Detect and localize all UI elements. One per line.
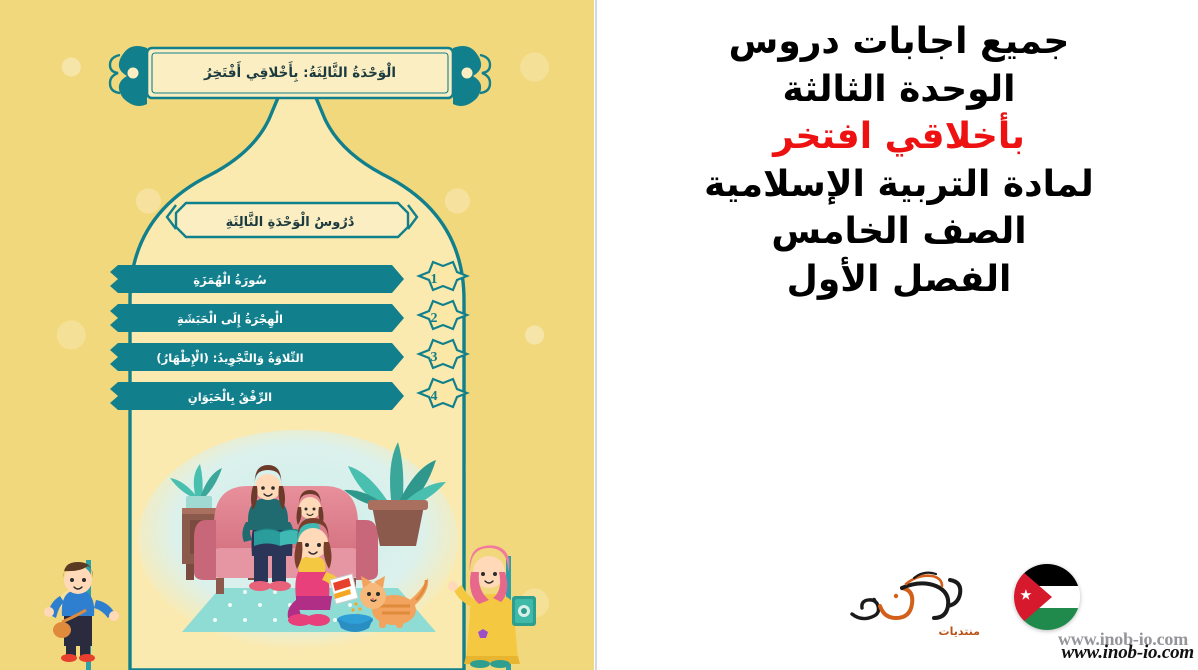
headline-line-2: الوحدة الثالثة (619, 66, 1179, 114)
lesson-title: التِّلاوَةُ وَالتَّجْوِيدُ: (الْإِظْهَار… (60, 343, 400, 373)
banner-flourish-left (110, 46, 147, 106)
lesson-number: 4 (416, 380, 452, 414)
headline-line-1: جميع اجابات دروس (619, 18, 1179, 66)
lesson-row[interactable]: سُورَةُ الْهُمَزَةِ 1 (60, 265, 460, 295)
lessons-heading-text: دُرُوسُ الْوَحْدَةِ الثَّالِثَةِ (190, 205, 390, 239)
headline-unit-name: بأخلاقي افتخر (619, 113, 1179, 161)
cover-artwork (0, 0, 594, 670)
page-root: الْوَحْدَةُ الثَّالِثَةُ: بِأَخْلاقِي أَ… (0, 0, 1198, 670)
plant-pot (372, 506, 424, 546)
waving-boy (44, 560, 119, 670)
lesson-number: 3 (416, 341, 452, 375)
brand-calligraphy-icon (844, 562, 984, 628)
lesson-title: الرِّفْقُ بِالْحَيَوَانِ (60, 382, 400, 412)
site-watermark: www.inob-io.com (1062, 642, 1194, 664)
lesson-number: 2 (416, 302, 452, 336)
open-book (254, 529, 302, 546)
text-panel: جميع اجابات دروس الوحدة الثالثة بأخلاقي … (600, 0, 1198, 670)
banner-flourish-right (453, 46, 490, 106)
lesson-row[interactable]: التِّلاوَةُ وَالتَّجْوِيدُ: (الْإِظْهَار… (60, 343, 460, 373)
lesson-title: الْهِجْرَةُ إِلَى الْحَبَشَةِ (60, 304, 400, 334)
lesson-row[interactable]: الرِّفْقُ بِالْحَيَوَانِ 4 (60, 382, 460, 412)
family-illustration (138, 430, 458, 650)
lesson-row[interactable]: الْهِجْرَةُ إِلَى الْحَبَشَةِ 2 (60, 304, 460, 334)
unit-title-banner-text: الْوَحْدَةُ الثَّالِثَةُ: بِأَخْلاقِي أَ… (150, 50, 450, 96)
book-cover-image: الْوَحْدَةُ الثَّالِثَةُ: بِأَخْلاقِي أَ… (0, 0, 594, 670)
jordan-flag-badge (1014, 564, 1080, 630)
lesson-title: سُورَةُ الْهُمَزَةِ (60, 265, 400, 295)
headline-subject: لمادة التربية الإسلامية (619, 161, 1179, 209)
headline-term: الفصل الأول (619, 256, 1179, 304)
brand-subtitle: منتديات (939, 625, 980, 638)
site-logo[interactable]: منتديات (850, 560, 1080, 640)
lesson-number: 1 (416, 263, 452, 297)
headline-grade: الصف الخامس (619, 208, 1179, 256)
